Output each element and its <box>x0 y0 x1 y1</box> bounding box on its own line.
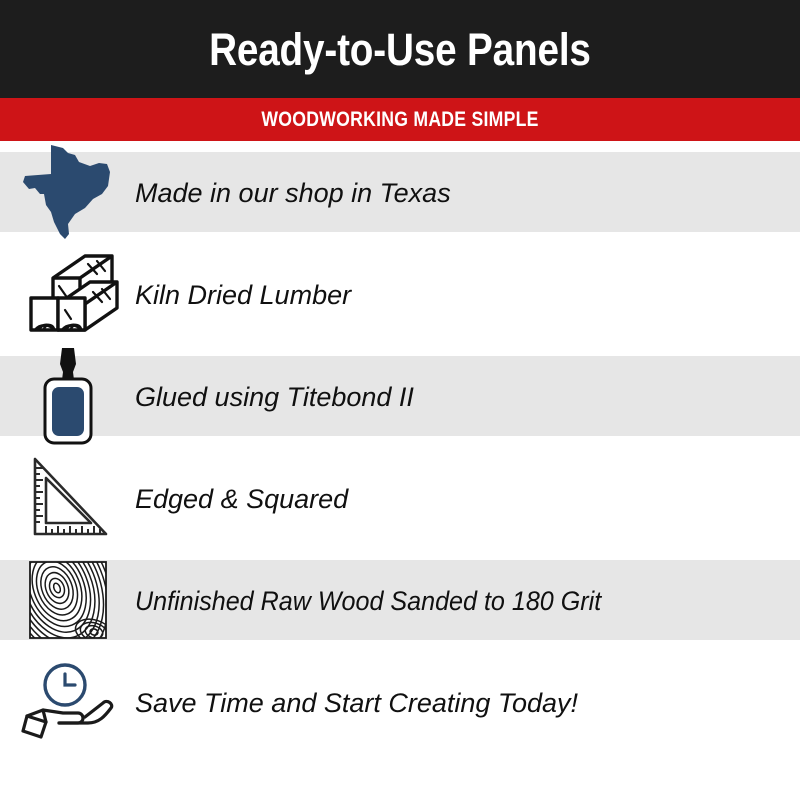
list-item-label: Glued using Titebond II <box>135 382 414 411</box>
list-item: Glued using Titebond II <box>0 345 800 447</box>
list-item: Unfinished Raw Wood Sanded to 180 Grit <box>0 549 800 651</box>
list-item-label: Edged & Squared <box>135 484 348 513</box>
wood-grain-icon <box>0 549 135 651</box>
feature-list: Made in our shop in Texas <box>0 141 800 800</box>
list-item: Save Time and Start Creating Today! <box>0 651 800 753</box>
page-title: Ready-to-Use Panels <box>209 27 591 72</box>
page-subtitle: WOODWORKING MADE SIMPLE <box>261 109 538 130</box>
clock-in-hand-icon <box>0 651 135 753</box>
glue-bottle-icon <box>0 345 135 447</box>
list-item-label: Kiln Dried Lumber <box>135 280 351 309</box>
list-item-label: Made in our shop in Texas <box>135 178 451 207</box>
infographic-page: Ready-to-Use Panels WOODWORKING MADE SIM… <box>0 0 800 800</box>
set-square-icon <box>0 447 135 549</box>
list-item-label: Unfinished Raw Wood Sanded to 180 Grit <box>135 586 601 615</box>
list-item: Kiln Dried Lumber <box>0 243 800 345</box>
header-banner: Ready-to-Use Panels <box>0 0 800 98</box>
subtitle-banner: WOODWORKING MADE SIMPLE <box>0 98 800 141</box>
list-item: Edged & Squared <box>0 447 800 549</box>
texas-state-icon <box>0 141 135 243</box>
lumber-stack-icon <box>0 243 135 345</box>
list-item: Made in our shop in Texas <box>0 141 800 243</box>
list-item-label: Save Time and Start Creating Today! <box>135 688 578 717</box>
